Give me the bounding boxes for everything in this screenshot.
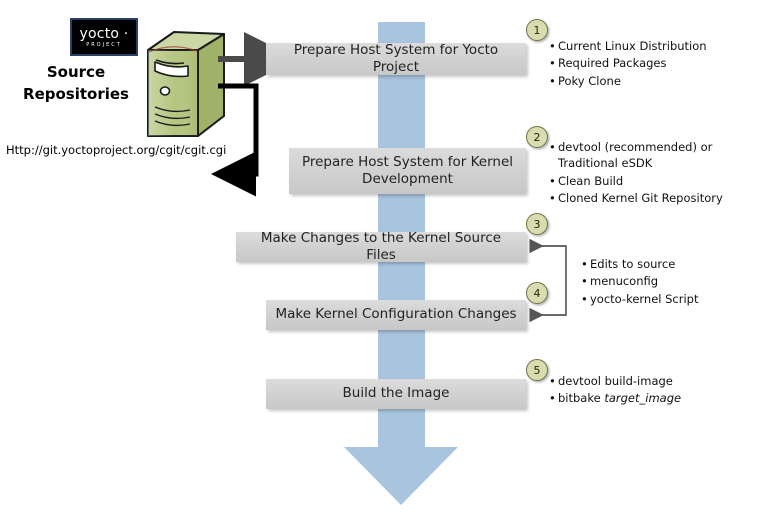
bullets-steps-3-4: •Edits to source•menuconfig•yocto-kernel… xyxy=(581,256,761,308)
bullet-text: Cloned Kernel Git Repository xyxy=(558,190,761,206)
bullet-item: •devtool build-image xyxy=(549,373,761,389)
bullet-item: •bitbake target_image xyxy=(549,390,761,406)
bullet-dot-icon: • xyxy=(549,73,558,89)
bullet-text: devtool (recommended) or Traditional eSD… xyxy=(558,139,761,172)
bullet-dot-icon: • xyxy=(549,373,558,389)
process-box-step-4[interactable]: Make Kernel Configuration Changes xyxy=(266,300,526,330)
yocto-logo-wordmark: yocto · xyxy=(80,27,129,41)
bullet-dot-icon: • xyxy=(581,291,590,307)
bullet-text: Edits to source xyxy=(590,256,761,272)
diagram-canvas: yocto · PROJECT Source Repositories Http… xyxy=(0,0,769,517)
bullet-text: bitbake target_image xyxy=(558,390,761,406)
bullet-dot-icon: • xyxy=(549,190,558,206)
step-badge-5: 5 xyxy=(526,359,548,381)
bullet-item: •Required Packages xyxy=(549,55,761,71)
bullets-step-5: •devtool build-image•bitbake target_imag… xyxy=(549,373,761,408)
process-box-step-3[interactable]: Make Changes to the Kernel Source Files xyxy=(236,232,526,262)
yocto-logo-subtext: PROJECT xyxy=(86,43,122,48)
step-badge-1: 1 xyxy=(526,19,548,41)
flow-arrow-head xyxy=(344,447,458,505)
step-badge-3: 3 xyxy=(526,213,548,235)
bullets-step-2: •devtool (recommended) or Traditional eS… xyxy=(549,139,761,207)
bullet-text: yocto-kernel Script xyxy=(590,291,761,307)
source-label-line2: Repositories xyxy=(14,84,138,106)
bullet-dot-icon: • xyxy=(549,38,558,54)
bullet-dot-icon: • xyxy=(549,173,558,189)
source-repositories-label: Source Repositories xyxy=(14,62,138,106)
process-box-step-1[interactable]: Prepare Host System for Yocto Project xyxy=(266,43,526,75)
bullet-text: Clean Build xyxy=(558,173,761,189)
yocto-project-logo: yocto · PROJECT xyxy=(70,18,138,56)
bullet-item: •yocto-kernel Script xyxy=(581,291,761,307)
server-tower-icon xyxy=(136,28,228,144)
bullet-dot-icon: • xyxy=(581,273,590,289)
process-box-step-5[interactable]: Build the Image xyxy=(266,379,526,409)
bullet-text: menuconfig xyxy=(590,273,761,289)
bullet-dot-icon: • xyxy=(581,256,590,272)
bullet-item: •Clean Build xyxy=(549,173,761,189)
source-repository-url: Http://git.yoctoproject.org/cgit/cgit.cg… xyxy=(6,143,226,157)
bullet-item: •Current Linux Distribution xyxy=(549,38,761,54)
bullet-dot-icon: • xyxy=(549,55,558,71)
bullet-dot-icon: • xyxy=(549,390,558,406)
bullets-step-1: •Current Linux Distribution•Required Pac… xyxy=(549,38,761,90)
source-label-line1: Source xyxy=(14,62,138,84)
bullet-item: •Cloned Kernel Git Repository xyxy=(549,190,761,206)
step-badge-4: 4 xyxy=(526,282,548,304)
bullet-item: •menuconfig xyxy=(581,273,761,289)
step-badge-2: 2 xyxy=(526,126,548,148)
bullet-item: •devtool (recommended) or Traditional eS… xyxy=(549,139,761,172)
bullet-text: Poky Clone xyxy=(558,73,761,89)
bullet-item: •Edits to source xyxy=(581,256,761,272)
process-box-step-2[interactable]: Prepare Host System for Kernel Developme… xyxy=(289,148,526,194)
bullet-text: Required Packages xyxy=(558,55,761,71)
bullet-text: Current Linux Distribution xyxy=(558,38,761,54)
bullet-item: •Poky Clone xyxy=(549,73,761,89)
bullet-text: devtool build-image xyxy=(558,373,761,389)
bullet-dot-icon: • xyxy=(549,139,558,155)
